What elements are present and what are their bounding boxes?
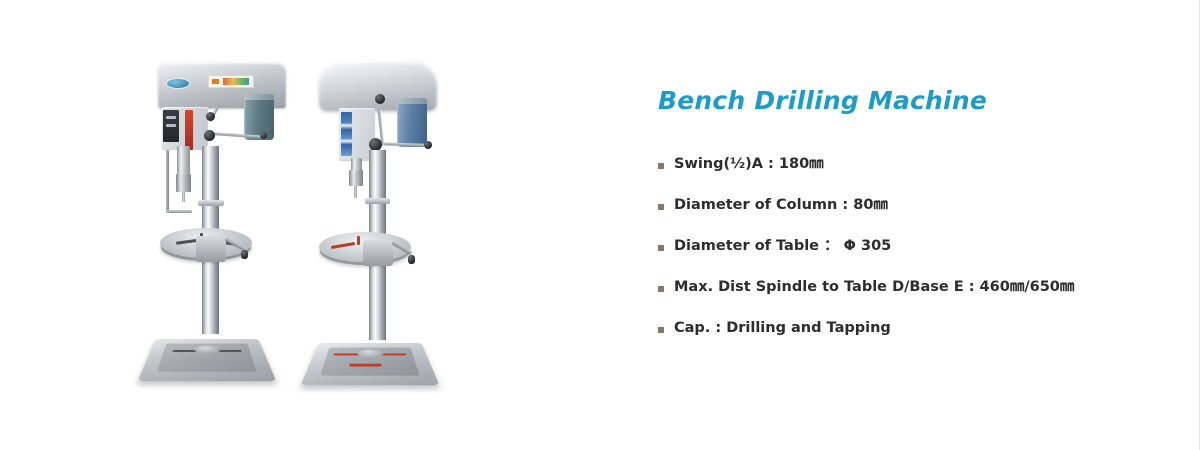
lever-end-knob-icon	[424, 141, 432, 149]
quill-hub-knob-icon	[204, 130, 215, 141]
product-photo-right-drill-press	[305, 50, 485, 400]
lever-end-knob-icon	[260, 132, 267, 139]
product-banner: Bench Drilling Machine Swing(½)A : 180㎜ …	[0, 0, 1200, 450]
bullet-square-icon	[658, 204, 664, 210]
bullet-square-icon	[658, 163, 664, 169]
feed-lever-knob-icon	[375, 94, 385, 104]
table-tslot-icon	[357, 236, 360, 245]
spec-item-label: Cap. : Drilling and Tapping	[674, 320, 891, 336]
speed-dial-plate-icon	[163, 110, 179, 142]
base-column-mount-icon	[358, 349, 384, 358]
spec-item-max-distance: Max. Dist Spindle to Table D/Base E : 46…	[658, 280, 1138, 296]
bullet-square-icon	[658, 327, 664, 333]
red-depth-scale-icon	[185, 110, 193, 150]
feed-lever-knob-icon	[206, 112, 215, 121]
table-support-bracket-icon	[196, 236, 226, 262]
drill-chuck-icon	[176, 174, 191, 192]
product-spec-block: Bench Drilling Machine Swing(½)A : 180㎜ …	[658, 86, 1138, 337]
column-collar-icon	[198, 200, 224, 206]
motor-cap-icon	[397, 98, 427, 104]
table-tslot-icon	[331, 242, 355, 249]
base-tslot-icon	[349, 364, 381, 367]
spec-item-column-diameter: Diameter of Column : 80㎜	[658, 198, 1138, 214]
drill-chuck-icon	[349, 170, 363, 186]
machine-base-icon	[138, 339, 277, 381]
bullet-square-icon	[658, 245, 664, 251]
quill-icon	[177, 146, 190, 174]
spec-item-label: Diameter of Table ： Φ 305	[674, 238, 891, 254]
spec-item-table-diameter: Diameter of Table ： Φ 305	[658, 239, 1138, 255]
product-image-group	[120, 50, 500, 400]
spec-list: Swing(½)A : 180㎜ Diameter of Column : 80…	[658, 157, 1138, 337]
table-support-bracket-icon	[363, 240, 393, 266]
drill-bit-icon	[354, 186, 357, 198]
motor-icon	[397, 102, 427, 147]
bullet-square-icon	[658, 286, 664, 292]
spec-item-capability: Cap. : Drilling and Tapping	[658, 321, 1138, 337]
spring-guard-base-icon	[166, 210, 192, 213]
base-table-surface-icon	[320, 348, 419, 376]
page-title: Bench Drilling Machine	[658, 86, 1138, 115]
spring-guard-rod-icon	[166, 150, 169, 212]
warning-sticker-icon	[208, 75, 254, 88]
spec-item-label: Diameter of Column : 80㎜	[674, 197, 888, 213]
column-collar-icon	[365, 198, 390, 204]
product-photo-left-drill-press	[140, 50, 320, 400]
motor-cap-icon	[244, 94, 274, 100]
brand-badge-icon	[166, 78, 190, 89]
drill-bit-icon	[182, 192, 185, 202]
table-crank-knob-icon	[241, 250, 248, 259]
table-crank-knob-icon	[408, 255, 415, 264]
spec-item-label: Swing(½)A : 180㎜	[674, 156, 824, 172]
machine-base-icon	[301, 343, 440, 385]
spec-item-swing: Swing(½)A : 180㎜	[658, 157, 1138, 173]
spec-item-label: Max. Dist Spindle to Table D/Base E : 46…	[674, 279, 1074, 295]
base-table-surface-icon	[157, 344, 256, 372]
base-column-mount-icon	[195, 345, 221, 354]
blue-speed-chart-icon	[341, 112, 352, 156]
